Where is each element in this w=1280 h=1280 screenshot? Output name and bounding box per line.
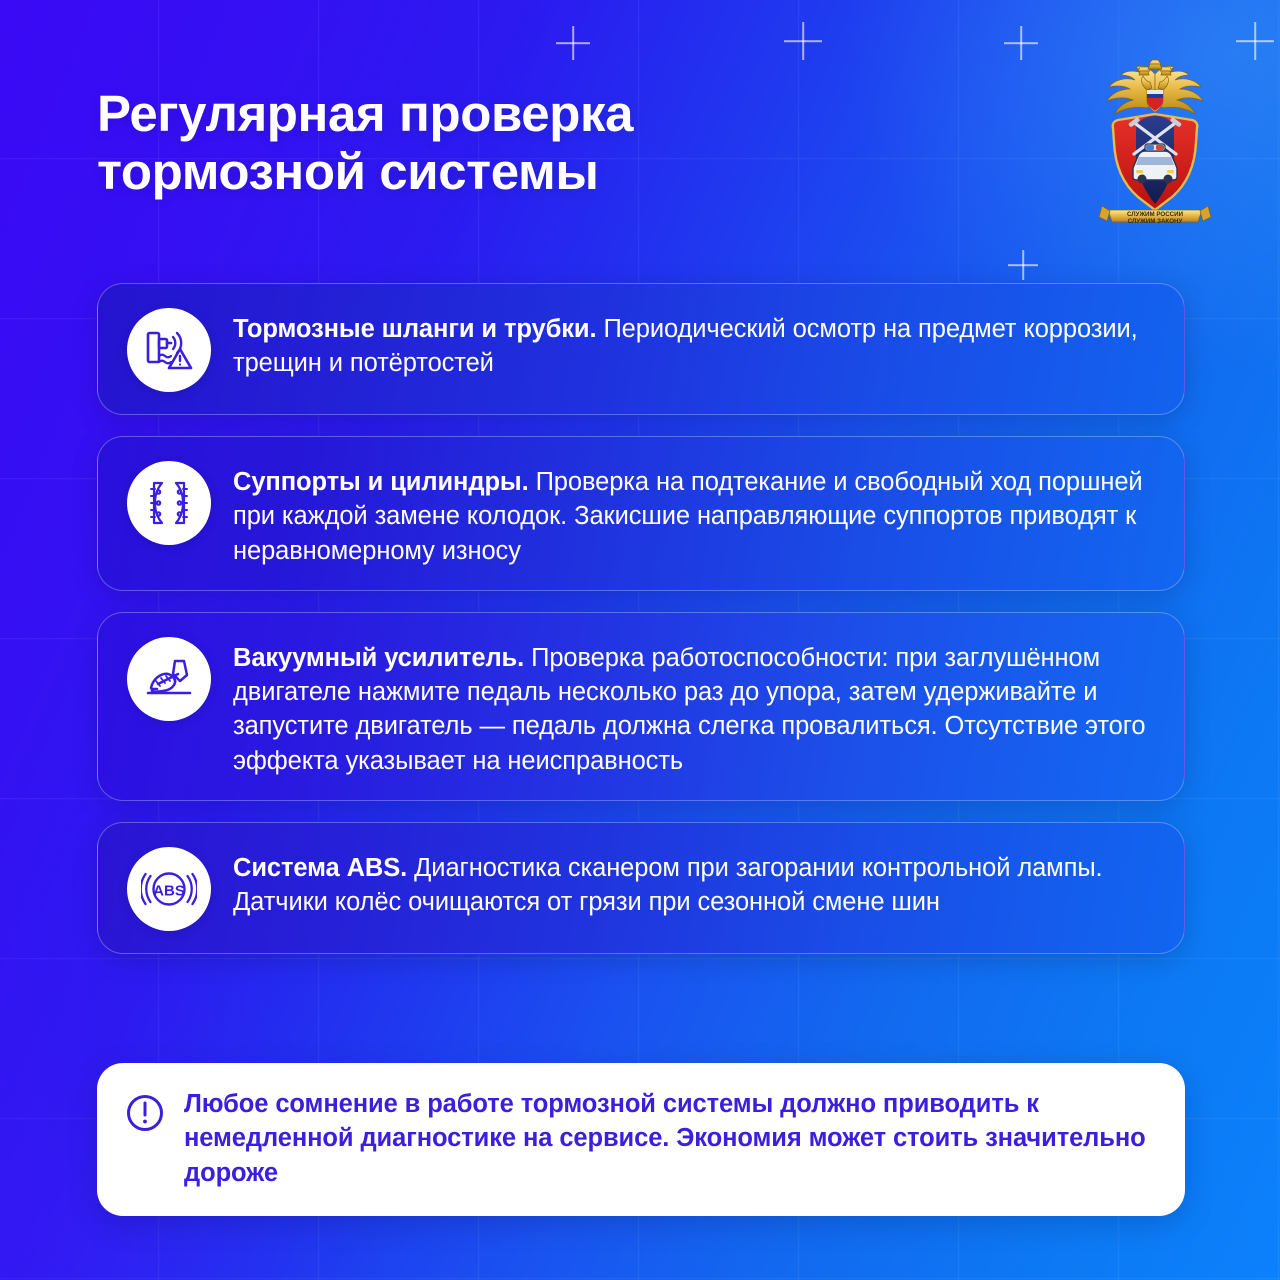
page-title: Регулярная проверка тормозной системы: [97, 85, 897, 200]
exclamation-circle-icon: [125, 1093, 165, 1138]
tip-card-text: Система ABS. Диагностика сканером при за…: [233, 845, 1154, 920]
gibdd-emblem: СЛУЖИМ РОССИИ СЛУЖИМ ЗАКОНУ: [1092, 58, 1218, 234]
tip-lead: Вакуумный усилитель.: [233, 644, 524, 672]
tip-lead: Тормозные шланги и трубки.: [233, 315, 596, 343]
warning-callout: Любое сомнение в работе тормозной систем…: [97, 1063, 1185, 1216]
tip-lead: Суппорты и цилиндры.: [233, 468, 529, 496]
brake-hose-leak-icon: [127, 308, 211, 392]
tip-card-vacuum-booster: Вакуумный усилитель. Проверка работоспос…: [97, 612, 1185, 801]
page-title-line-2: тормозной системы: [97, 143, 897, 201]
page-title-line-1: Регулярная проверка: [97, 85, 897, 143]
tip-card-abs: ABS Система ABS. Диагностика сканером пр…: [97, 822, 1185, 954]
tip-lead: Система ABS.: [233, 854, 407, 882]
tip-card-text: Вакуумный усилитель. Проверка работоспос…: [233, 635, 1154, 778]
emblem-motto-top: СЛУЖИМ РОССИИ: [1127, 211, 1184, 218]
tips-list: Тормозные шланги и трубки. Периодический…: [97, 283, 1185, 975]
tip-card-text: Суппорты и цилиндры. Проверка на подтека…: [233, 459, 1154, 568]
brake-caliper-icon: [127, 461, 211, 545]
svg-text:ABS: ABS: [153, 883, 185, 900]
brake-pedal-foot-icon: [127, 637, 211, 721]
tip-card-text: Тормозные шланги и трубки. Периодический…: [233, 306, 1154, 381]
tip-card-calipers: Суппорты и цилиндры. Проверка на подтека…: [97, 436, 1185, 591]
warning-callout-text: Любое сомнение в работе тормозной систем…: [184, 1087, 1151, 1190]
abs-warning-icon: ABS: [127, 847, 211, 931]
emblem-motto-bottom: СЛУЖИМ ЗАКОНУ: [1128, 218, 1183, 225]
tip-card-brake-hoses: Тормозные шланги и трубки. Периодический…: [97, 283, 1185, 415]
